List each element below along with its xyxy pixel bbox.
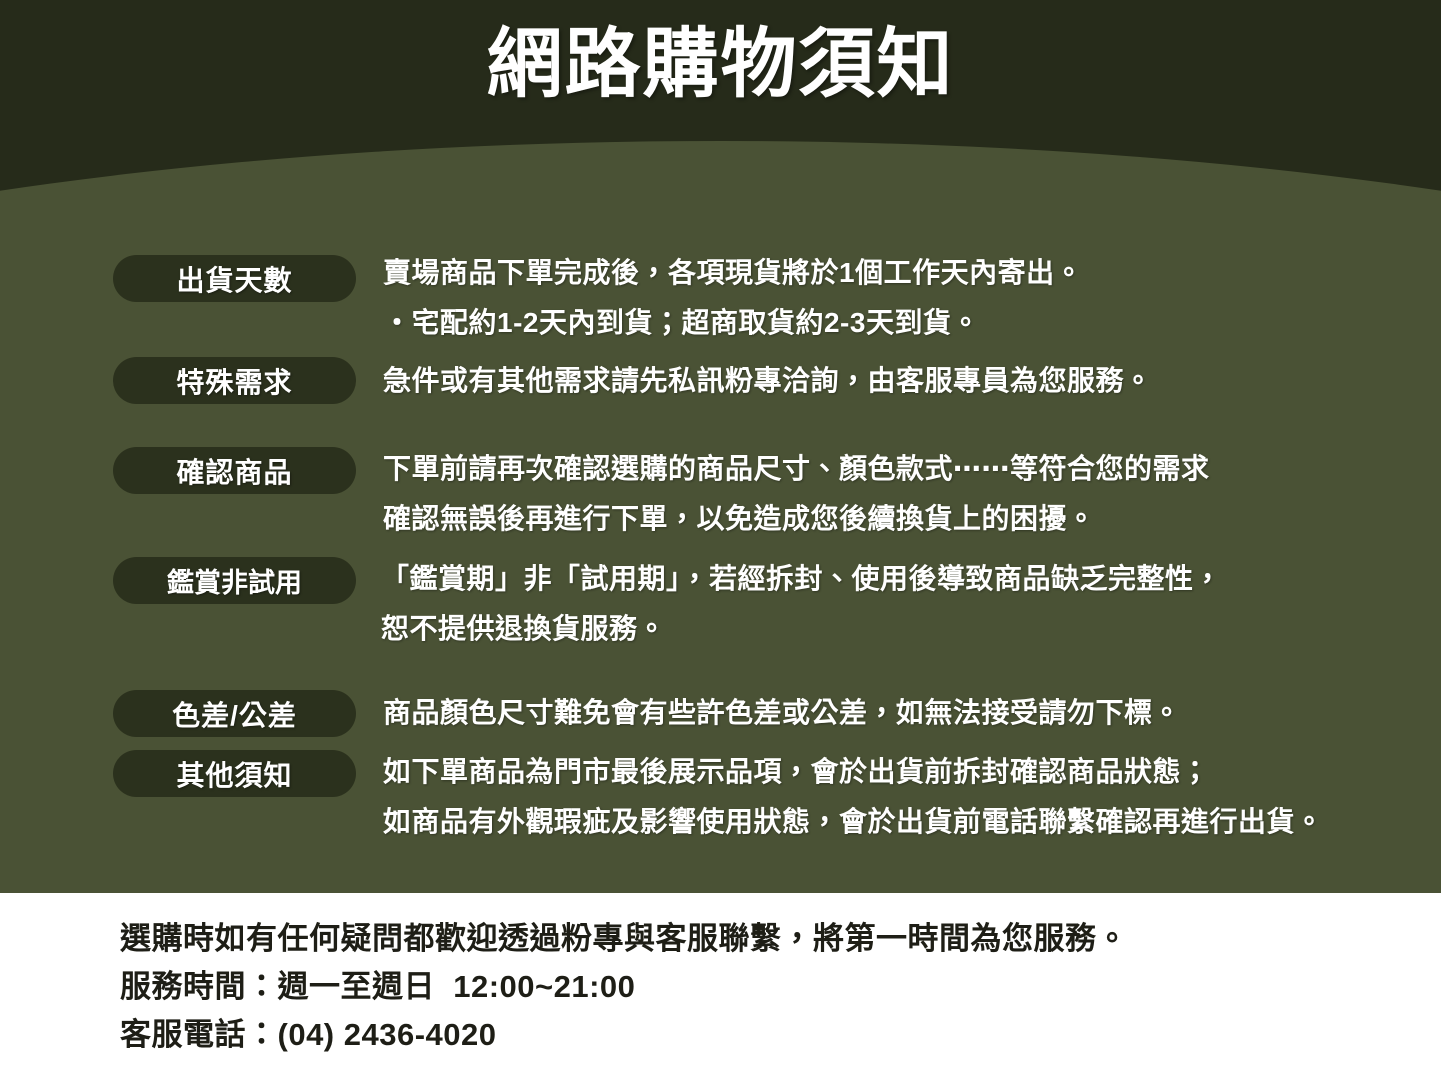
section-body-color-tolerance: 商品顏色尺寸難免會有些許色差或公差，如無法接受請勿下標。 [383,688,1181,738]
page-title: 網路購物須知 [0,22,1441,107]
footer-service-hours: 服務時間：週一至週日 12:00~21:00 [120,961,635,1006]
section-label-shipping-days: 出貨天數 [113,255,356,302]
notice-rows: 出貨天數 賣場商品下單完成後，各項現貨將於1個工作天內寄出。 ・宅配約1-2天內… [0,0,1441,893]
section-label-special-request: 特殊需求 [113,357,356,404]
notice-page: 網路購物須知 出貨天數 賣場商品下單完成後，各項現貨將於1個工作天內寄出。 ・宅… [0,0,1441,1080]
section-body-inspection-not-trial: 「鑑賞期」非「試用期」，若經拆封、使用後導致商品缺乏完整性， 恕不提供退換貨服務… [381,554,1222,654]
section-label-confirm-product: 確認商品 [113,447,356,494]
section-label-color-tolerance: 色差/公差 [113,690,356,737]
section-body-confirm-product: 下單前請再次確認選購的商品尺寸、顏色款式⋯⋯等符合您的需求 確認無誤後再進行下單… [383,444,1210,544]
section-body-special-request: 急件或有其他需求請先私訊粉專洽詢，由客服專員為您服務。 [383,356,1153,406]
footer-contact-note: 選購時如有任何疑問都歡迎透過粉專與客服聯繫，將第一時間為您服務。 [120,913,1128,958]
footer-panel: 選購時如有任何疑問都歡迎透過粉專與客服聯繫，將第一時間為您服務。 服務時間：週一… [0,893,1441,1080]
footer-service-phone: 客服電話：(04) 2436-4020 [120,1009,497,1054]
section-label-inspection-not-trial: 鑑賞非試用 [113,557,356,604]
section-body-other-notice: 如下單商品為門市最後展示品項，會於出貨前拆封確認商品狀態； 如商品有外觀瑕疵及影… [383,747,1324,847]
section-label-other-notice: 其他須知 [113,750,356,797]
section-body-shipping-days: 賣場商品下單完成後，各項現貨將於1個工作天內寄出。 ・宅配約1-2天內到貨；超商… [383,248,1083,348]
